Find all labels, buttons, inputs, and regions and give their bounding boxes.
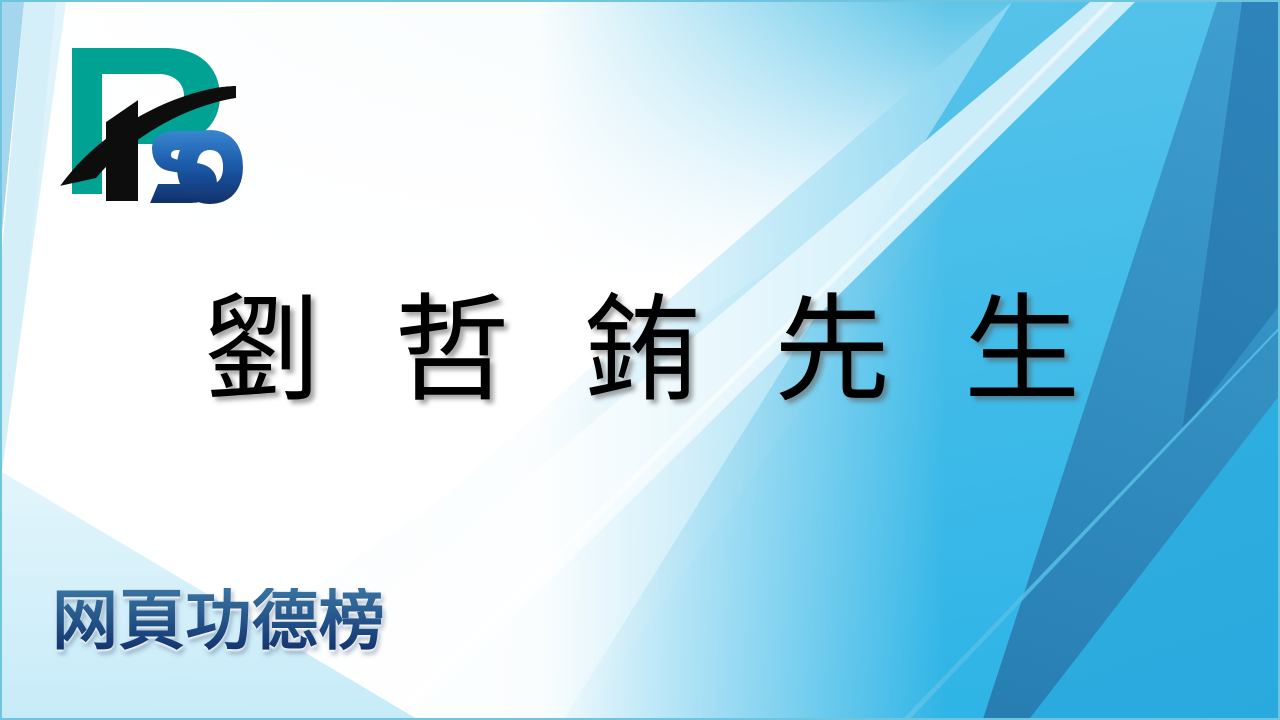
slide: 劉 哲 銪 先 生 网頁功德榜 <box>0 0 1280 720</box>
slide-title: 劉 哲 銪 先 生 <box>2 278 1280 423</box>
footer-wordmark: 网頁功德榜 <box>52 588 385 654</box>
pso-logo <box>54 26 254 216</box>
logo-letters-so <box>150 130 243 204</box>
